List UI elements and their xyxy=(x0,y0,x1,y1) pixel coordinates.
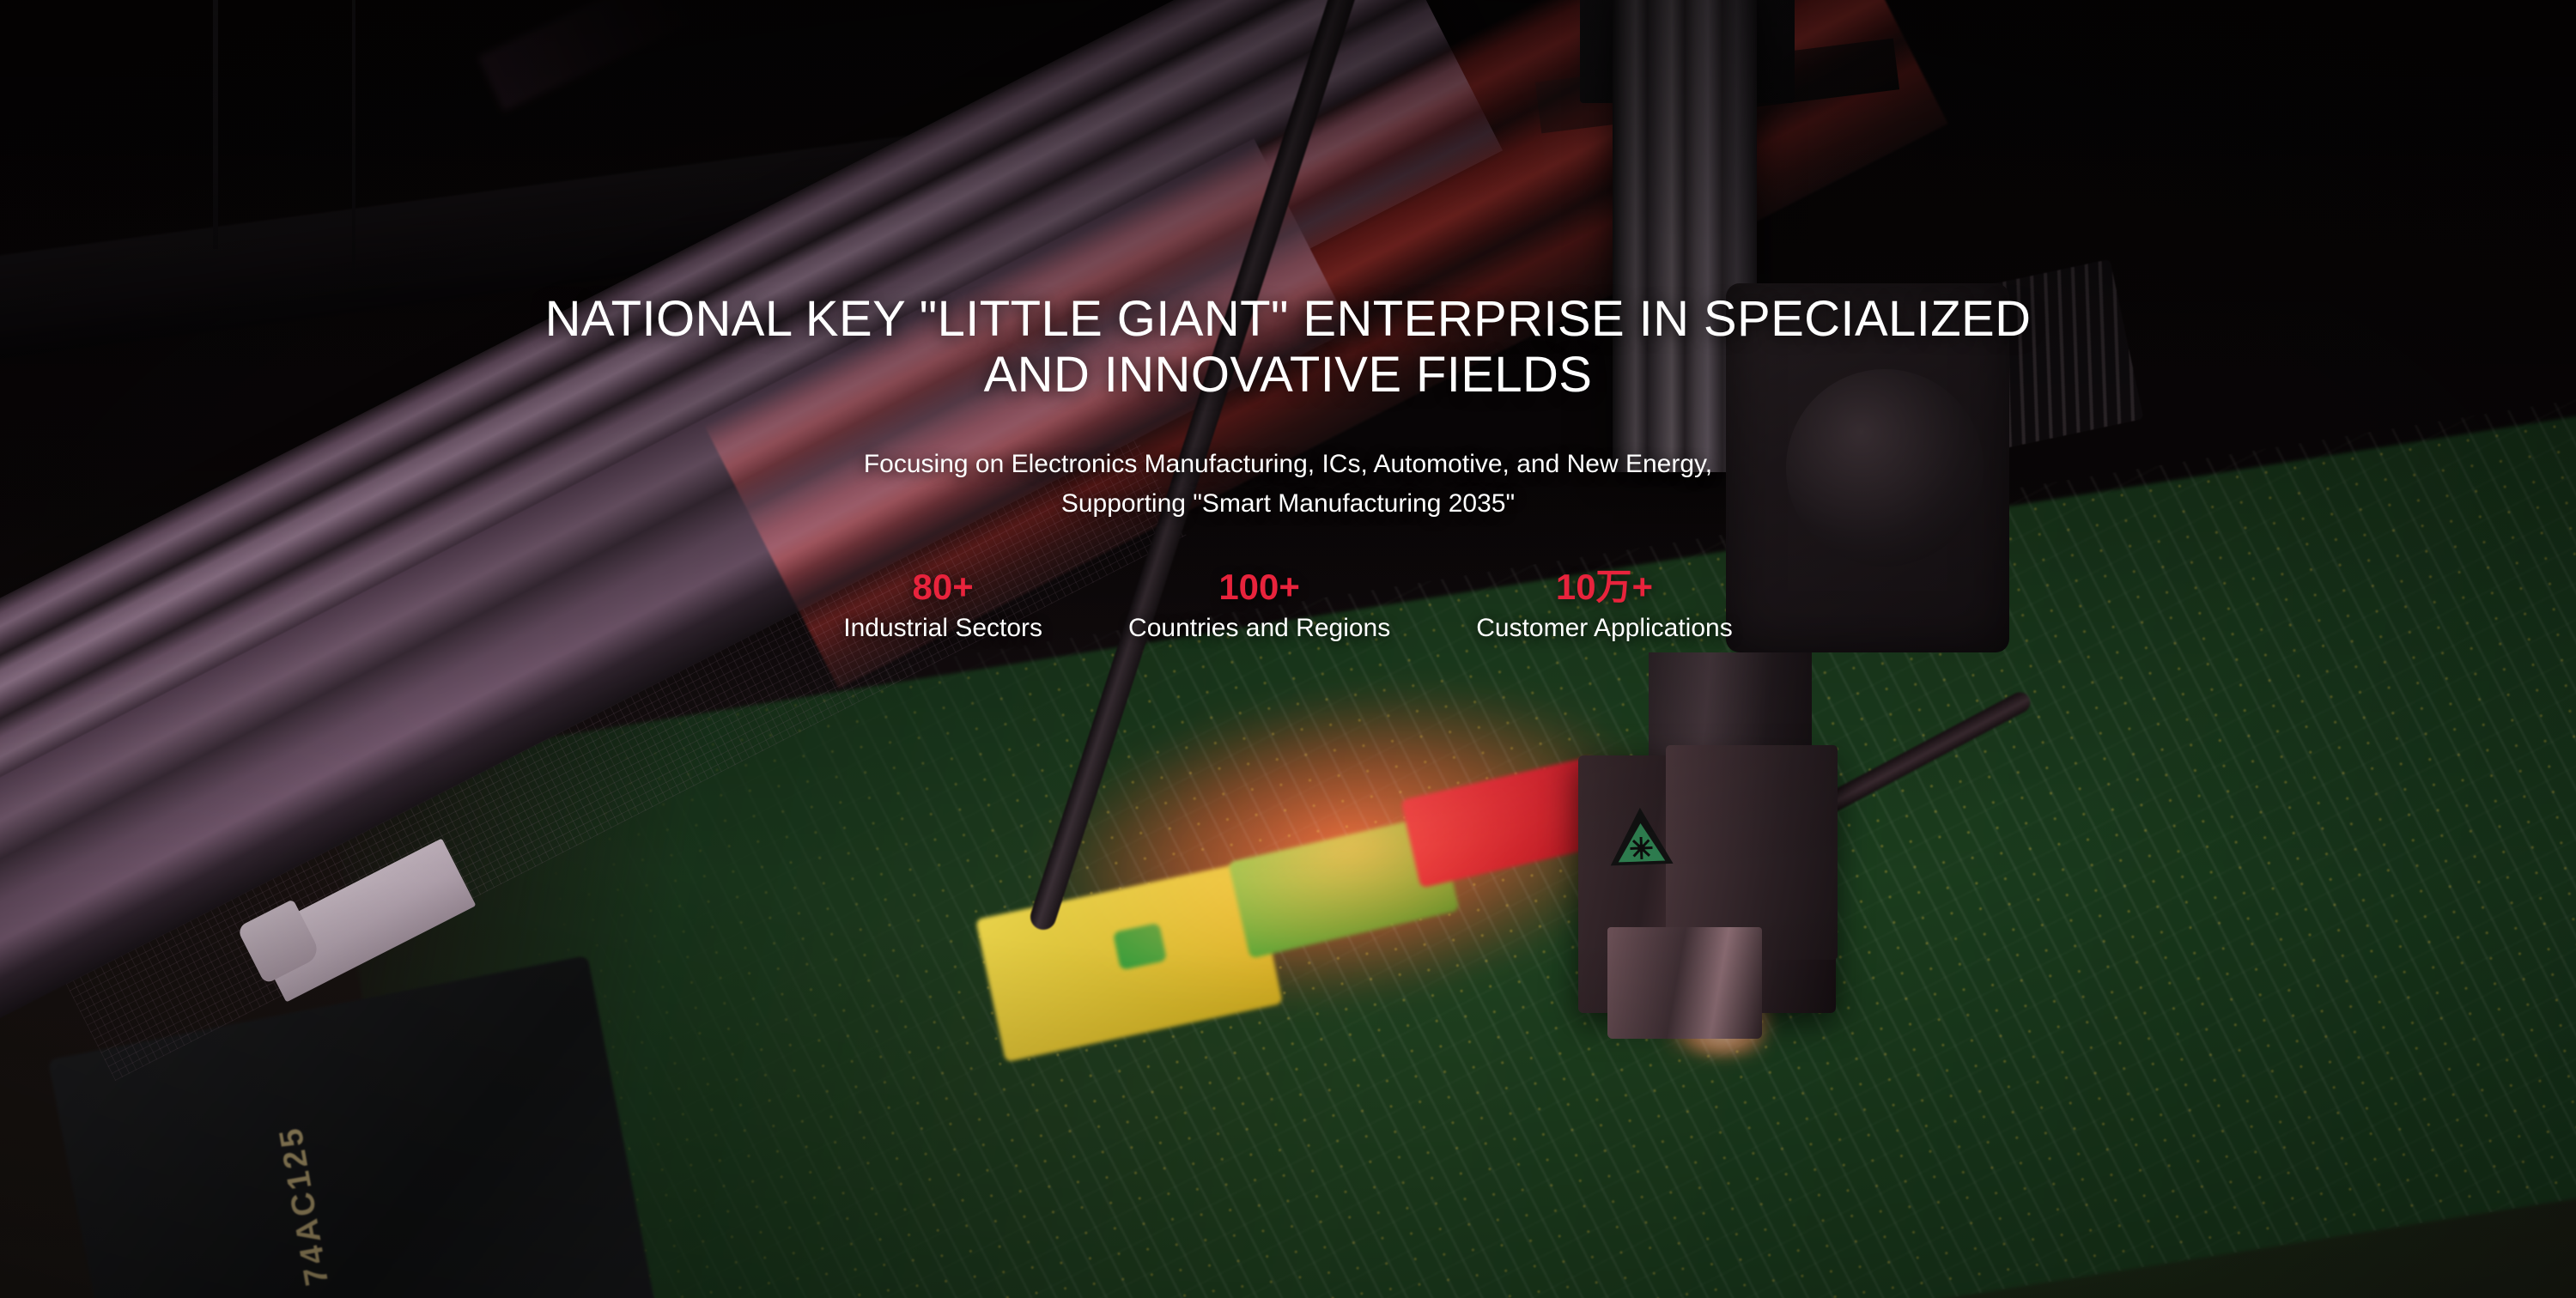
page-title: NATIONAL KEY "LITTLE GIANT" ENTERPRISE I… xyxy=(545,292,2032,403)
hero-subtitle-line-1: Focusing on Electronics Manufacturing, I… xyxy=(864,445,1712,484)
stat-item-industrial-sectors: 80+ Industrial Sectors xyxy=(843,567,1042,643)
stat-label: Countries and Regions xyxy=(1128,614,1390,643)
hero-banner: 74AC125 xyxy=(0,0,2576,1298)
stat-value: 100+ xyxy=(1218,567,1300,607)
stat-item-customer-applications: 10万+ Customer Applications xyxy=(1476,567,1732,643)
page-title-line-1: NATIONAL KEY "LITTLE GIANT" ENTERPRISE I… xyxy=(545,292,2032,348)
page-title-line-2: AND INNOVATIVE FIELDS xyxy=(545,348,2032,403)
hero-subtitle: Focusing on Electronics Manufacturing, I… xyxy=(864,445,1712,523)
hero-stats: 80+ Industrial Sectors 100+ Countries an… xyxy=(843,567,1732,643)
stat-item-countries-and-regions: 100+ Countries and Regions xyxy=(1128,567,1390,643)
stat-label: Industrial Sectors xyxy=(843,614,1042,643)
stat-value: 10万+ xyxy=(1556,567,1653,607)
stat-label: Customer Applications xyxy=(1476,614,1732,643)
hero-content: NATIONAL KEY "LITTLE GIANT" ENTERPRISE I… xyxy=(0,0,2576,1298)
hero-subtitle-line-2: Supporting "Smart Manufacturing 2035" xyxy=(864,484,1712,524)
stat-value: 80+ xyxy=(913,567,974,607)
